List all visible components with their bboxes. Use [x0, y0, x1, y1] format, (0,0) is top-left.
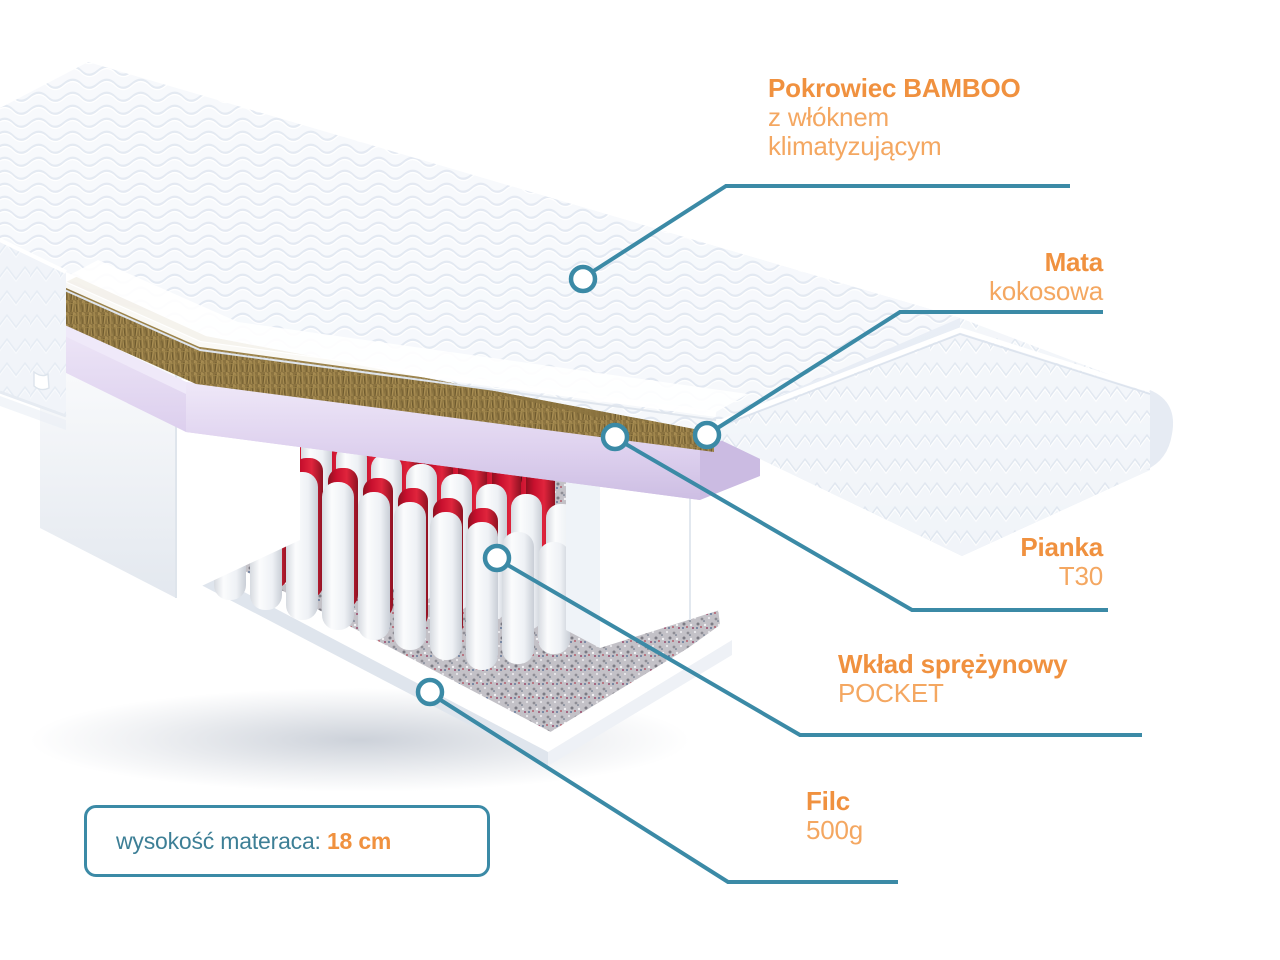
callout-subtitle-mata-kokosowa: kokosowa — [828, 277, 1103, 306]
callout-label-wklad-pocket: Wkład sprężynowy POCKET — [838, 650, 1067, 708]
callout-title-mata-kokosowa: Mata — [828, 248, 1103, 277]
mattress-height-value: 18 cm — [327, 828, 391, 854]
callout-title-pokrowiec-bamboo: Pokrowiec BAMBOO — [768, 74, 1021, 103]
callout-subtitle-filc-500g: 500g — [806, 816, 863, 845]
callout-subtitle-wklad-pocket: POCKET — [838, 679, 1067, 708]
mattress-height-label: wysokość materaca: — [116, 828, 321, 854]
callout-label-filc-500g: Filc 500g — [806, 787, 863, 845]
mattress-height-badge: wysokość materaca: 18 cm — [84, 805, 490, 877]
callout-title-pianka-t30: Pianka — [860, 533, 1103, 562]
callout-subtitle-pokrowiec-bamboo-line1: z włóknem — [768, 103, 1021, 132]
callout-title-wklad-pocket: Wkład sprężynowy — [838, 650, 1067, 679]
mattress-height-badge-text: wysokość materaca: 18 cm — [87, 828, 391, 855]
callout-label-pianka-t30: Pianka T30 — [860, 533, 1103, 591]
callout-subtitle-pokrowiec-bamboo-line2: klimatyzującym — [768, 132, 1021, 161]
callout-label-pokrowiec-bamboo: Pokrowiec BAMBOO z włóknem klimatyzujący… — [768, 74, 1021, 161]
callout-title-filc-500g: Filc — [806, 787, 863, 816]
callout-subtitle-pianka-t30: T30 — [860, 562, 1103, 591]
callout-label-mata-kokosowa: Mata kokosowa — [828, 248, 1103, 306]
mattress-infographic: Pokrowiec BAMBOO z włóknem klimatyzujący… — [0, 0, 1280, 960]
